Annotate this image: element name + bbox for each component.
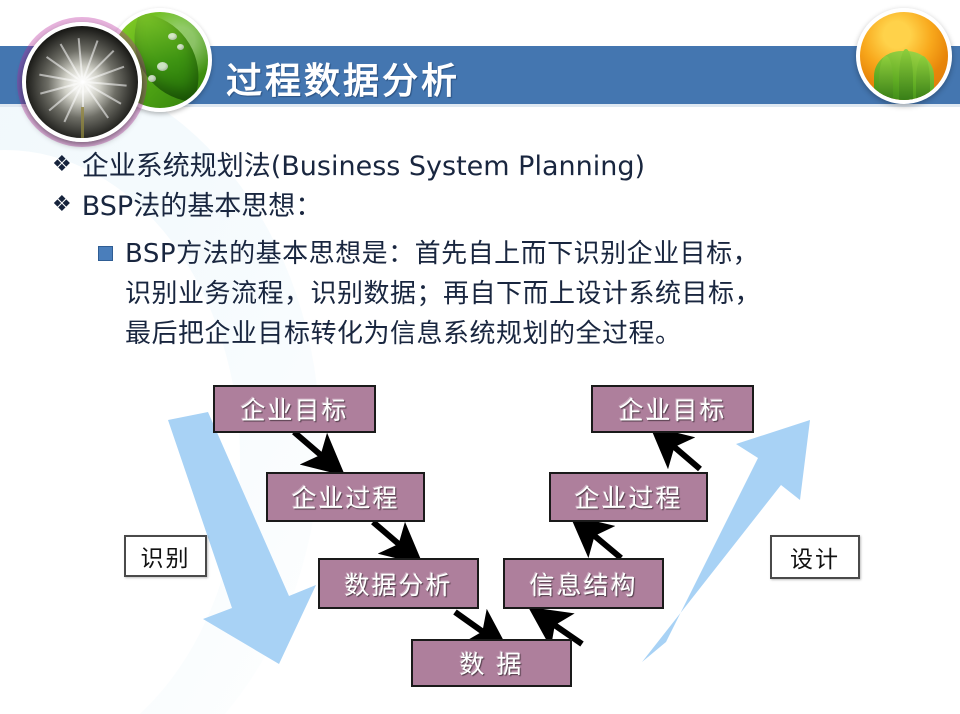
- box-left-enterprise-goal[interactable]: 企业目标: [213, 385, 376, 433]
- water-drop-icon: [168, 33, 177, 40]
- bullet-item-2: ❖ BSP法的基本思想：: [52, 190, 932, 224]
- sub-bullet-text: BSP方法的基本思想是：首先自上而下识别企业目标， 识别业务流程，识别数据；再自…: [125, 234, 761, 354]
- box-data[interactable]: 数 据: [411, 639, 572, 687]
- square-bullet-icon: [98, 246, 113, 261]
- label-design[interactable]: 设计: [770, 535, 860, 579]
- label-identify[interactable]: 识别: [124, 535, 207, 577]
- box-right-enterprise-goal[interactable]: 企业目标: [591, 385, 754, 433]
- bullet-list: ❖ 企业系统规划法(Business System Planning) ❖ BS…: [52, 150, 932, 354]
- sub-bullet-line-3: 最后把企业目标转化为信息系统规划的全过程。: [125, 319, 682, 349]
- diamond-bullet-icon: ❖: [52, 150, 72, 180]
- bsp-flow-diagram: 企业目标 企业过程 数据分析 数 据 信息结构 企业过程 企业目标 识别 设计: [0, 372, 960, 714]
- dandelion-circle-icon: [22, 22, 142, 142]
- sub-bullet-line-1: BSP方法的基本思想是：首先自上而下识别企业目标，: [125, 239, 759, 269]
- box-right-info-structure[interactable]: 信息结构: [503, 558, 664, 609]
- slide: 过程数据分析 ❖ 企业系统规划法(Business System Plannin…: [0, 0, 960, 714]
- bullet-label-1: 企业系统规划法(Business System Planning): [82, 150, 645, 184]
- diamond-bullet-icon: ❖: [52, 190, 72, 220]
- box-left-data-analysis[interactable]: 数据分析: [318, 558, 479, 609]
- bullet-item-1: ❖ 企业系统规划法(Business System Planning): [52, 150, 932, 184]
- tulip-circle-icon: [856, 8, 952, 104]
- water-drop-icon: [157, 62, 168, 71]
- page-title: 过程数据分析: [226, 52, 460, 104]
- sub-bullet-item: BSP方法的基本思想是：首先自上而下识别企业目标， 识别业务流程，识别数据；再自…: [98, 234, 932, 354]
- box-left-enterprise-process[interactable]: 企业过程: [266, 472, 425, 522]
- water-drop-icon: [148, 75, 156, 82]
- dandelion-stem: [81, 107, 84, 141]
- box-right-enterprise-process[interactable]: 企业过程: [549, 472, 708, 522]
- water-drop-icon: [177, 44, 184, 50]
- sub-bullet-line-2: 识别业务流程，识别数据；再自下而上设计系统目标，: [125, 279, 761, 309]
- bullet-label-2: BSP法的基本思想：: [82, 190, 322, 224]
